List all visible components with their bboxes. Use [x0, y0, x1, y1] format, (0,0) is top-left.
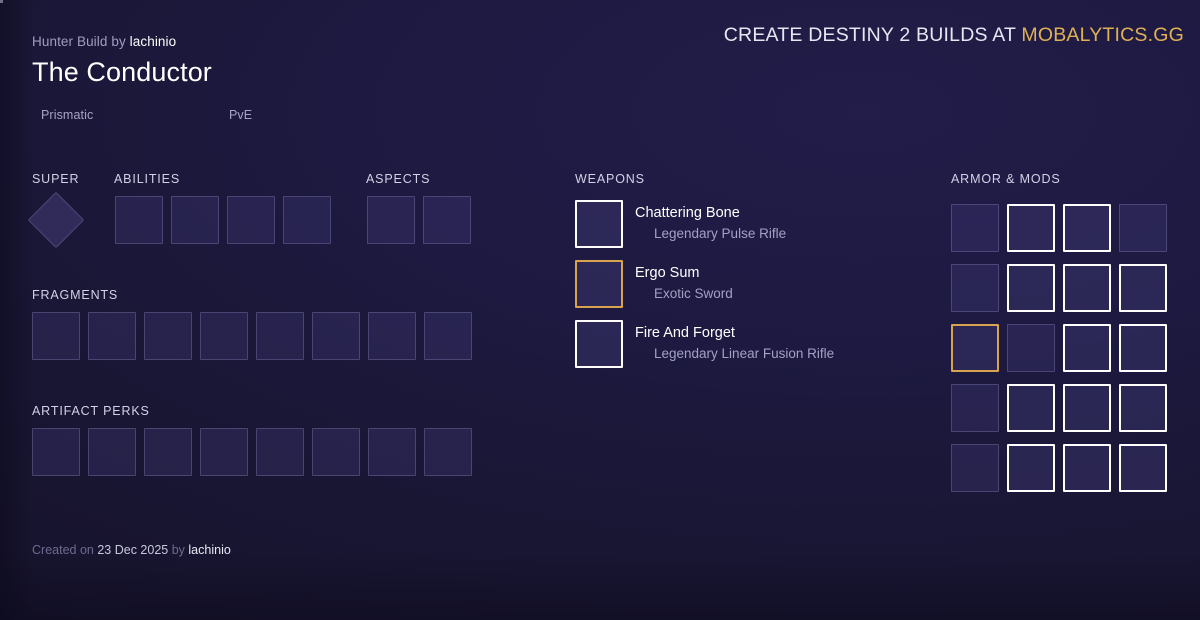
artifact-perk-slot[interactable] — [32, 428, 80, 476]
fragment-slot[interactable] — [256, 312, 304, 360]
section-label-abilities: ABILITIES — [114, 172, 180, 186]
artifact-perk-slot[interactable] — [424, 428, 472, 476]
artifact-perk-slot[interactable] — [368, 428, 416, 476]
ability-slot[interactable] — [115, 196, 163, 244]
weapon-type: Legendary Linear Fusion Rifle — [654, 346, 834, 361]
footer-credit: Created on 23 Dec 2025 by lachinio — [32, 543, 231, 557]
armor-slot[interactable] — [951, 264, 999, 312]
mod-slot[interactable] — [1119, 384, 1167, 432]
section-label-super: SUPER — [32, 172, 79, 186]
weapon-name: Fire And Forget — [635, 325, 735, 341]
mod-slot[interactable] — [1063, 264, 1111, 312]
section-label-fragments: FRAGMENTS — [32, 288, 118, 302]
armor-slot[interactable] — [951, 444, 999, 492]
weapon-icon[interactable] — [575, 320, 623, 368]
promo-text: CREATE DESTINY 2 BUILDS AT — [724, 24, 1016, 46]
weapon-name: Ergo Sum — [635, 265, 699, 281]
weapon-type: Exotic Sword — [654, 286, 733, 301]
ability-slot[interactable] — [283, 196, 331, 244]
weapon-type: Legendary Pulse Rifle — [654, 226, 786, 241]
mod-slot[interactable] — [1063, 204, 1111, 252]
section-label-artifact-perks: ARTIFACT PERKS — [32, 404, 150, 418]
artifact-perk-slot[interactable] — [256, 428, 304, 476]
tag-activity[interactable]: PvE — [229, 108, 252, 122]
section-label-aspects: ASPECTS — [366, 172, 430, 186]
fragment-slot[interactable] — [424, 312, 472, 360]
section-label-weapons: WEAPONS — [575, 172, 645, 186]
byline: Hunter Build by lachinio — [32, 34, 176, 49]
artifact-perk-slot[interactable] — [312, 428, 360, 476]
mod-slot[interactable] — [1063, 384, 1111, 432]
fragment-slot[interactable] — [312, 312, 360, 360]
ability-slot[interactable] — [227, 196, 275, 244]
footer-by: by — [172, 543, 185, 557]
aspect-slot[interactable] — [423, 196, 471, 244]
mod-slot[interactable] — [1007, 204, 1055, 252]
footer-date: 23 Dec 2025 — [97, 543, 168, 557]
fragment-slot[interactable] — [32, 312, 80, 360]
mod-slot[interactable] — [1063, 444, 1111, 492]
armor-slot[interactable] — [951, 204, 999, 252]
build-tags: Prismatic PvE — [32, 108, 452, 128]
mod-slot[interactable] — [1119, 444, 1167, 492]
promo-brand-link[interactable]: MOBALYTICS.GG — [1021, 24, 1184, 46]
promo-banner: CREATE DESTINY 2 BUILDS AT MOBALYTICS.GG — [724, 24, 1184, 47]
fragment-slot[interactable] — [144, 312, 192, 360]
fragment-slot[interactable] — [368, 312, 416, 360]
mod-slot[interactable] — [1119, 264, 1167, 312]
footer-created-prefix: Created on — [32, 543, 94, 557]
artifact-perk-slot[interactable] — [144, 428, 192, 476]
tag-subclass[interactable]: Prismatic — [41, 108, 93, 122]
artifact-perk-slot[interactable] — [200, 428, 248, 476]
weapon-icon[interactable] — [575, 260, 623, 308]
weapon-icon[interactable] — [575, 200, 623, 248]
super-slot[interactable] — [28, 192, 85, 249]
weapon-name: Chattering Bone — [635, 205, 740, 221]
section-label-armor-mods: ARMOR & MODS — [951, 172, 1061, 186]
armor-slot[interactable] — [951, 384, 999, 432]
build-card: Hunter Build by lachinio The Conductor C… — [0, 0, 1200, 620]
footer-author[interactable]: lachinio — [188, 543, 230, 557]
fragment-slot[interactable] — [88, 312, 136, 360]
mod-slot[interactable] — [1119, 204, 1167, 252]
artifact-perk-slot[interactable] — [88, 428, 136, 476]
armor-slot-exotic[interactable] — [951, 324, 999, 372]
page-title: The Conductor — [32, 57, 212, 88]
byline-prefix: Hunter Build by — [32, 34, 126, 49]
byline-author[interactable]: lachinio — [130, 34, 177, 49]
mod-slot[interactable] — [1007, 444, 1055, 492]
mod-slot[interactable] — [1063, 324, 1111, 372]
ability-slot[interactable] — [171, 196, 219, 244]
mod-slot[interactable] — [1007, 324, 1055, 372]
mod-slot[interactable] — [1119, 324, 1167, 372]
fragment-slot[interactable] — [200, 312, 248, 360]
mod-slot[interactable] — [1007, 384, 1055, 432]
mod-slot[interactable] — [1007, 264, 1055, 312]
aspect-slot[interactable] — [367, 196, 415, 244]
